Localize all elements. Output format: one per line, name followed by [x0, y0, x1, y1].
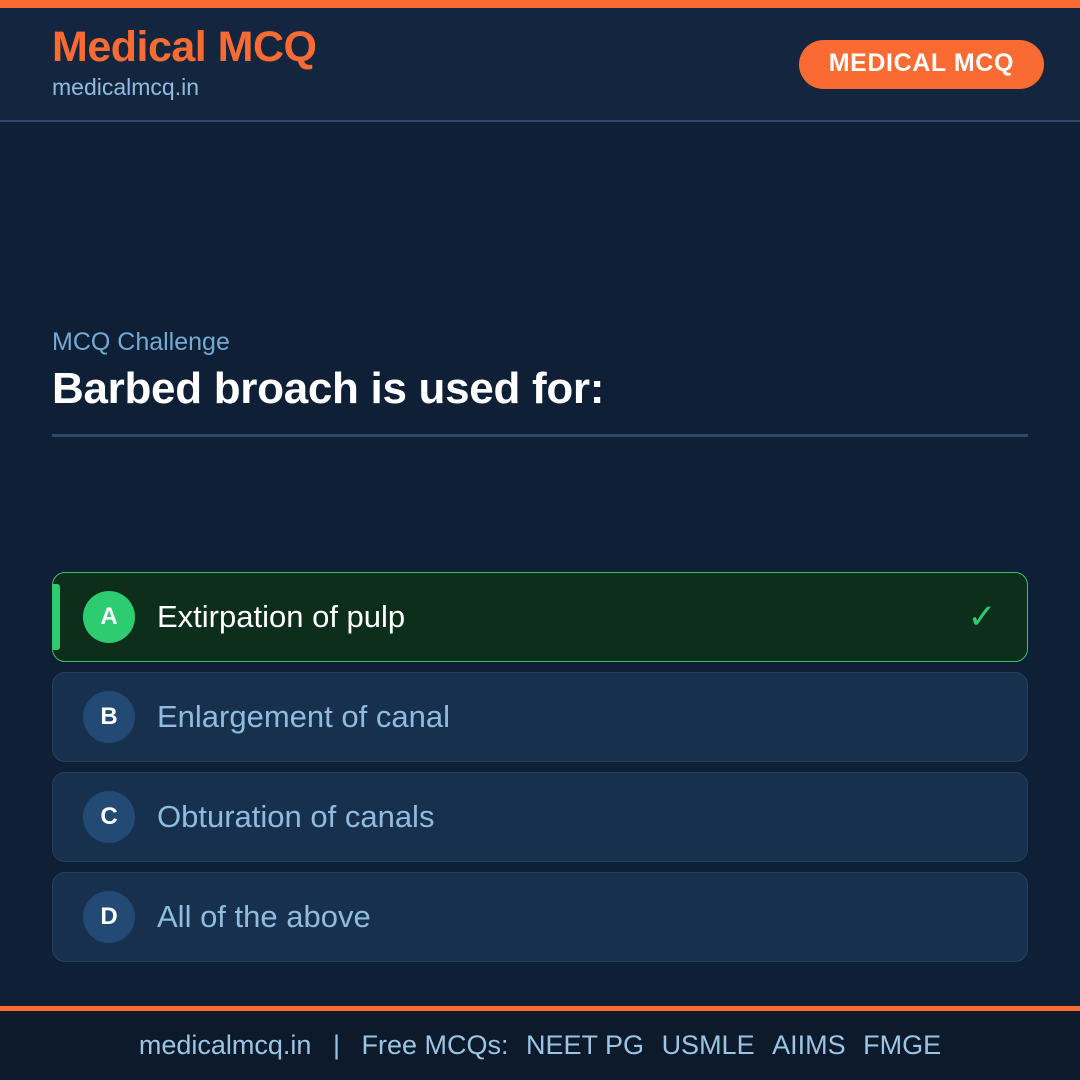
option-a[interactable]: AExtirpation of pulp✓: [52, 572, 1028, 662]
header: Medical MCQ medicalmcq.in MEDICAL MCQ: [0, 8, 1080, 122]
footer-prefix: Free MCQs:: [361, 1030, 508, 1060]
option-label: All of the above: [157, 898, 965, 935]
footer-site: medicalmcq.in: [139, 1030, 312, 1060]
option-label: Extirpation of pulp: [157, 598, 965, 635]
footer-exam-usmle: USMLE: [652, 1030, 755, 1060]
footer-exam-neet-pg: NEET PG: [516, 1030, 644, 1060]
top-accent-bar: [0, 0, 1080, 8]
option-letter-badge: B: [83, 691, 135, 743]
header-badge: MEDICAL MCQ: [799, 40, 1044, 89]
option-label: Obturation of canals: [157, 798, 965, 835]
mcq-card: Medical MCQ medicalmcq.in MEDICAL MCQ MC…: [0, 0, 1080, 1080]
question-title: Barbed broach is used for:: [52, 363, 1028, 414]
check-icon: ✓: [965, 600, 999, 634]
correct-accent-bar: [53, 584, 60, 650]
footer-separator: |: [319, 1030, 354, 1060]
footer-exam-aiims: AIIMS: [762, 1030, 846, 1060]
option-letter-badge: D: [83, 891, 135, 943]
footer-exam-fmge: FMGE: [853, 1030, 941, 1060]
question-block: MCQ Challenge Barbed broach is used for:: [52, 327, 1028, 437]
option-letter-badge: C: [83, 791, 135, 843]
option-c[interactable]: CObturation of canals: [52, 772, 1028, 862]
option-letter-badge: A: [83, 591, 135, 643]
brand-subtitle: medicalmcq.in: [52, 72, 317, 103]
option-d[interactable]: DAll of the above: [52, 872, 1028, 962]
question-divider: [52, 434, 1028, 437]
brand-title: Medical MCQ: [52, 25, 317, 70]
options-list: AExtirpation of pulp✓BEnlargement of can…: [52, 572, 1028, 962]
question-eyebrow: MCQ Challenge: [52, 327, 1028, 357]
footer-text: medicalmcq.in | Free MCQs: NEET PG USMLE…: [139, 1032, 941, 1059]
main-content: MCQ Challenge Barbed broach is used for:…: [0, 122, 1080, 1006]
option-b[interactable]: BEnlargement of canal: [52, 672, 1028, 762]
option-label: Enlargement of canal: [157, 698, 965, 735]
footer: medicalmcq.in | Free MCQs: NEET PG USMLE…: [0, 1006, 1080, 1080]
brand: Medical MCQ medicalmcq.in: [52, 25, 317, 103]
